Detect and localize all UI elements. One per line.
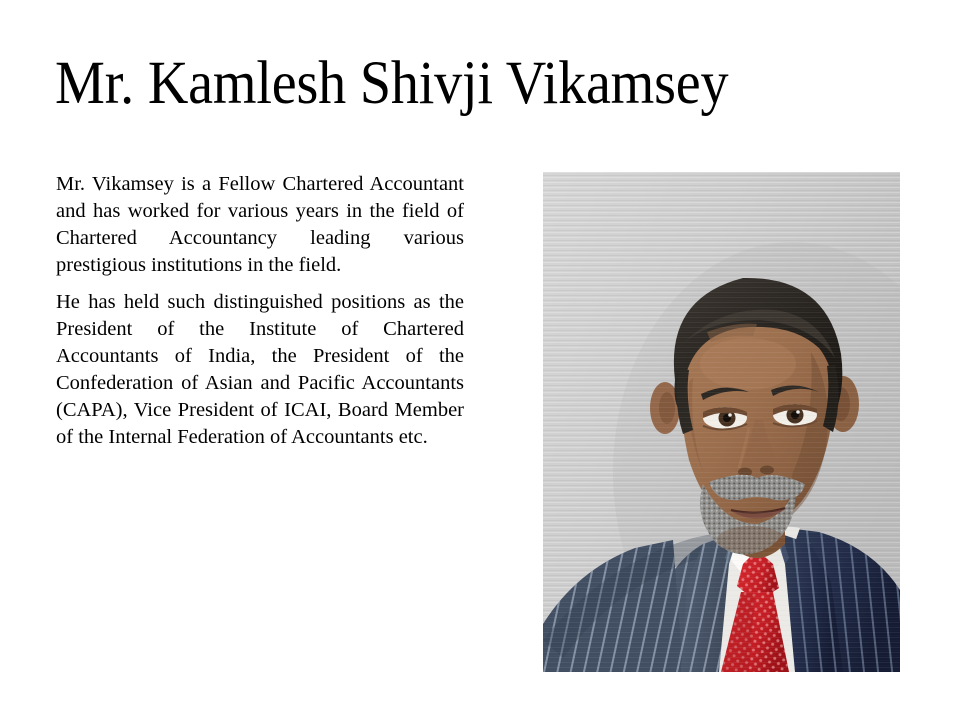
- body-paragraph-1: Mr. Vikamsey is a Fellow Chartered Accou…: [56, 171, 464, 279]
- body-paragraph-2: He has held such distinguished positions…: [56, 289, 464, 451]
- body-text-block: Mr. Vikamsey is a Fellow Chartered Accou…: [56, 171, 464, 451]
- slide: Mr. Kamlesh Shivji Vikamsey Mr. Vikamsey…: [0, 0, 960, 720]
- portrait-photo: [543, 172, 900, 672]
- portrait-illustration: [543, 172, 900, 672]
- page-title: Mr. Kamlesh Shivji Vikamsey: [55, 48, 828, 120]
